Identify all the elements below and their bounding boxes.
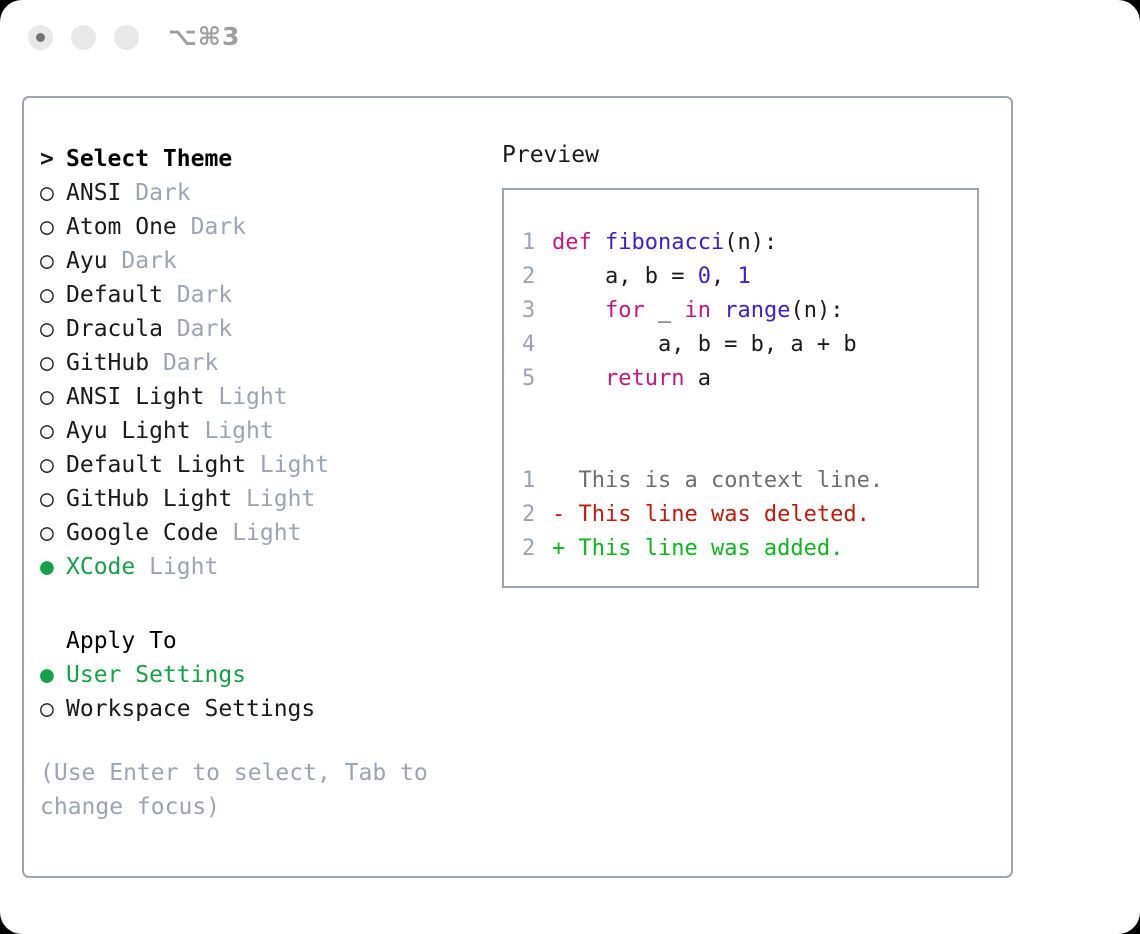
theme-name: Google Code xyxy=(66,520,218,546)
code-token: 1 xyxy=(737,264,750,289)
code-token: (n): xyxy=(790,298,843,323)
diff-line-deleted: 2- This line was deleted. xyxy=(522,498,977,532)
theme-variant: Light xyxy=(232,520,301,546)
radio-unselected-icon: ○ xyxy=(40,210,66,244)
theme-variant: Light xyxy=(218,384,287,410)
main-panel: >Select Theme ○ANSI Dark ○Atom One Dark … xyxy=(22,96,1013,878)
select-theme-heading: >Select Theme xyxy=(40,142,480,176)
maximize-dot[interactable] xyxy=(114,25,139,50)
minimize-dot[interactable] xyxy=(71,25,96,50)
section-spacer xyxy=(40,584,480,624)
apply-to-label: User Settings xyxy=(66,662,246,688)
theme-name: XCode xyxy=(66,554,135,580)
radio-unselected-icon: ○ xyxy=(40,482,66,516)
app-window: ⌥⌘3 >Select Theme ○ANSI Dark ○Atom One D… xyxy=(0,0,1140,934)
keyboard-shortcut-label: ⌥⌘3 xyxy=(168,22,240,51)
code-blank-line xyxy=(522,396,977,430)
theme-option-default-light[interactable]: ○Default Light Light xyxy=(40,448,480,482)
code-token: in xyxy=(684,298,711,323)
code-token: a xyxy=(684,366,711,391)
line-number: 3 xyxy=(522,294,552,328)
radio-unselected-icon: ○ xyxy=(40,278,66,312)
radio-selected-icon: ● xyxy=(40,658,66,692)
code-token xyxy=(552,298,605,323)
diff-sign xyxy=(552,468,565,493)
code-token: return xyxy=(605,366,684,391)
line-number: 5 xyxy=(522,362,552,396)
code-token: 0 xyxy=(698,264,711,289)
apply-to-heading-text: Apply To xyxy=(66,628,177,654)
radio-selected-icon: ● xyxy=(40,550,66,584)
theme-name: Atom One xyxy=(66,214,177,240)
apply-to-label: Workspace Settings xyxy=(66,696,315,722)
theme-name: ANSI Light xyxy=(66,384,204,410)
window-controls xyxy=(28,25,139,50)
active-indicator-icon xyxy=(36,33,45,42)
theme-variant: Dark xyxy=(135,180,190,206)
preview-code-box: 1def fibonacci(n): 2 a, b = 0, 1 3 for _… xyxy=(502,188,979,588)
theme-name: Dracula xyxy=(66,316,163,342)
radio-unselected-icon: ○ xyxy=(40,346,66,380)
theme-option-ansi-dark[interactable]: ○ANSI Dark xyxy=(40,176,480,210)
radio-unselected-icon: ○ xyxy=(40,176,66,210)
theme-variant: Dark xyxy=(177,316,232,342)
radio-unselected-icon: ○ xyxy=(40,244,66,278)
theme-option-dracula-dark[interactable]: ○Dracula Dark xyxy=(40,312,480,346)
code-token: , xyxy=(711,264,738,289)
theme-name: Default xyxy=(66,282,163,308)
theme-name: ANSI xyxy=(66,180,121,206)
theme-option-github-dark[interactable]: ○GitHub Dark xyxy=(40,346,480,380)
code-token: fibonacci xyxy=(605,230,724,255)
heading-text: Select Theme xyxy=(66,146,232,172)
theme-option-google-code[interactable]: ○Google Code Light xyxy=(40,516,480,550)
radio-unselected-icon: ○ xyxy=(40,380,66,414)
code-line: 5 return a xyxy=(522,362,977,396)
theme-name: Default Light xyxy=(66,452,246,478)
theme-option-ayu-light[interactable]: ○Ayu Light Light xyxy=(40,414,480,448)
theme-variant: Light xyxy=(204,418,273,444)
code-line: 3 for _ in range(n): xyxy=(522,294,977,328)
code-token xyxy=(711,298,724,323)
theme-variant: Dark xyxy=(177,282,232,308)
theme-variant: Light xyxy=(246,486,315,512)
code-token: a, b = b, a + b xyxy=(552,332,857,357)
code-line: 4 a, b = b, a + b xyxy=(522,328,977,362)
radio-unselected-icon: ○ xyxy=(40,692,66,726)
code-blank-line xyxy=(522,430,977,464)
theme-variant: Light xyxy=(260,452,329,478)
theme-option-github-light[interactable]: ○GitHub Light Light xyxy=(40,482,480,516)
code-token: for xyxy=(605,298,645,323)
diff-line-context: 1 This is a context line. xyxy=(522,464,977,498)
diff-text: This line was added. xyxy=(579,536,844,561)
theme-picker-column: >Select Theme ○ANSI Dark ○Atom One Dark … xyxy=(40,142,480,824)
hint-spacer xyxy=(40,726,480,756)
preview-column: Preview 1def fibonacci(n): 2 a, b = 0, 1… xyxy=(502,142,1002,588)
radio-unselected-icon: ○ xyxy=(40,414,66,448)
theme-name: GitHub xyxy=(66,350,149,376)
theme-option-atom-one-dark[interactable]: ○Atom One Dark xyxy=(40,210,480,244)
heading-prefix-icon: > xyxy=(40,142,66,176)
diff-text: This line was deleted. xyxy=(579,502,870,527)
diff-line-added: 2+ This line was added. xyxy=(522,532,977,566)
theme-variant: Dark xyxy=(191,214,246,240)
code-token: a, b = xyxy=(552,264,698,289)
preview-heading: Preview xyxy=(502,142,1002,168)
keyboard-hint-text: (Use Enter to select, Tab to change focu… xyxy=(40,756,450,824)
theme-option-xcode[interactable]: ●XCode Light xyxy=(40,550,480,584)
code-token xyxy=(592,230,605,255)
code-line: 2 a, b = 0, 1 xyxy=(522,260,977,294)
diff-text: This is a context line. xyxy=(579,468,884,493)
theme-option-ayu-dark[interactable]: ○Ayu Dark xyxy=(40,244,480,278)
diff-sign: - xyxy=(552,502,565,527)
apply-to-workspace-settings[interactable]: ○Workspace Settings xyxy=(40,692,480,726)
theme-name: Ayu xyxy=(66,248,108,274)
code-token: range xyxy=(724,298,790,323)
code-line: 1def fibonacci(n): xyxy=(522,226,977,260)
radio-unselected-icon: ○ xyxy=(40,448,66,482)
code-token: def xyxy=(552,230,592,255)
theme-variant: Dark xyxy=(163,350,218,376)
theme-name: Ayu Light xyxy=(66,418,191,444)
close-dot[interactable] xyxy=(28,25,53,50)
line-number: 1 xyxy=(522,226,552,260)
apply-to-heading: Apply To xyxy=(40,624,480,658)
theme-option-ansi-light[interactable]: ○ANSI Light Light xyxy=(40,380,480,414)
theme-variant: Dark xyxy=(121,248,176,274)
radio-unselected-icon: ○ xyxy=(40,516,66,550)
theme-name: GitHub Light xyxy=(66,486,232,512)
line-number: 1 xyxy=(522,464,552,498)
title-bar: ⌥⌘3 xyxy=(0,0,1140,78)
diff-sign: + xyxy=(552,536,565,561)
theme-variant: Light xyxy=(149,554,218,580)
code-token: (n): xyxy=(724,230,777,255)
line-number: 2 xyxy=(522,532,552,566)
radio-unselected-icon: ○ xyxy=(40,312,66,346)
apply-to-user-settings[interactable]: ●User Settings xyxy=(40,658,480,692)
line-number: 2 xyxy=(522,498,552,532)
line-number: 4 xyxy=(522,328,552,362)
line-number: 2 xyxy=(522,260,552,294)
theme-option-default-dark[interactable]: ○Default Dark xyxy=(40,278,480,312)
code-token: _ xyxy=(645,298,685,323)
code-token xyxy=(552,366,605,391)
